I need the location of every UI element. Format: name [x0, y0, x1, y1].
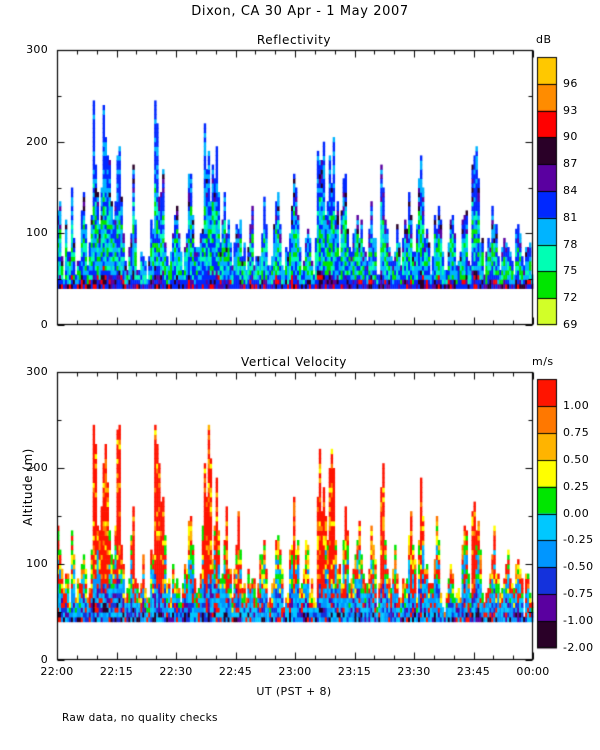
x-tick-label-22-45: 22:45: [206, 665, 266, 678]
colorbar-label-ms-2: 0.50: [563, 453, 589, 466]
y-tick-label-reflectivity-100: 100: [8, 226, 48, 239]
x-tick-label-23-45: 23:45: [444, 665, 504, 678]
colorbar-header-ms: m/s: [532, 355, 554, 368]
colorbar-label-ms-0: 1.00: [563, 399, 589, 412]
colorbar-label-ms-8: -1.00: [563, 614, 593, 627]
colorbar-label-db-4: 84: [563, 184, 578, 197]
colorbar-label-db-9: 69: [563, 318, 578, 331]
colorbar-label-db-1: 93: [563, 104, 578, 117]
x-tick-label-23-30: 23:30: [384, 665, 444, 678]
y-tick-label-reflectivity-200: 200: [8, 135, 48, 148]
colorbar-label-ms-1: 0.75: [563, 426, 589, 439]
colorbar-label-ms-4: 0.00: [563, 507, 589, 520]
colorbar-label-ms-9: -2.00: [563, 641, 593, 654]
x-tick-label-23-00: 23:00: [265, 665, 325, 678]
colorbar-label-db-7: 75: [563, 264, 578, 277]
x-tick-label-22-30: 22:30: [146, 665, 206, 678]
x-axis-title: UT (PST + 8): [55, 685, 533, 698]
colorbar-label-ms-7: -0.75: [563, 587, 593, 600]
x-tick-label-23-15: 23:15: [325, 665, 385, 678]
colorbar-label-ms-3: 0.25: [563, 480, 589, 493]
x-tick-label-22-00: 22:00: [27, 665, 87, 678]
colorbar-header-db: dB: [536, 33, 552, 46]
profiler-time-height-plot: [0, 0, 600, 750]
y-axis-title: Altitude (m): [21, 427, 35, 547]
colorbar-label-db-2: 90: [563, 130, 578, 143]
x-tick-label-00-00: 00:00: [503, 665, 563, 678]
colorbar-label-db-0: 96: [563, 77, 578, 90]
colorbar-label-db-6: 78: [563, 238, 578, 251]
colorbar-label-ms-5: -0.25: [563, 533, 593, 546]
colorbar-label-db-3: 87: [563, 157, 578, 170]
colorbar-label-db-8: 72: [563, 291, 578, 304]
footnote: Raw data, no quality checks: [62, 712, 218, 724]
x-tick-label-22-15: 22:15: [87, 665, 147, 678]
y-tick-label-velocity-100: 100: [8, 557, 48, 570]
y-tick-label-reflectivity-300: 300: [8, 43, 48, 56]
y-tick-label-reflectivity-0: 0: [8, 318, 48, 331]
colorbar-label-db-5: 81: [563, 211, 578, 224]
y-tick-label-velocity-300: 300: [8, 365, 48, 378]
colorbar-label-ms-6: -0.50: [563, 560, 593, 573]
